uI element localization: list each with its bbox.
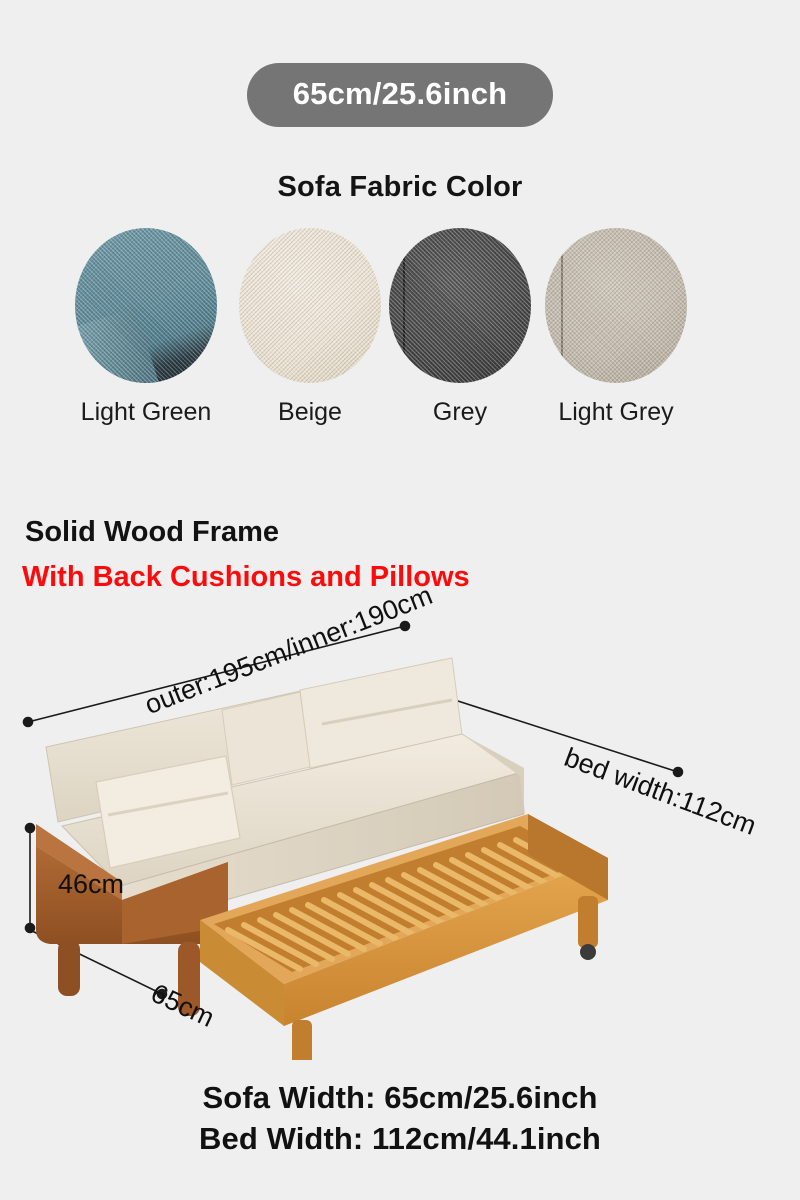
grey-fabric-swatch[interactable]: [389, 228, 531, 383]
bed-leg-right: [578, 896, 598, 948]
fabric-color-title: Sofa Fabric Color: [0, 171, 800, 204]
size-badge-container: 65cm/25.6inch: [0, 63, 800, 127]
fabric-seam-detail: [561, 234, 563, 383]
fabric-option-light-green[interactable]: Light Green: [66, 228, 226, 458]
solid-wood-frame-heading: Solid Wood Frame: [25, 516, 279, 549]
armrest-left-leg: [58, 940, 80, 996]
dimension-summary: Sofa Width: 65cm/25.6inch Bed Width: 112…: [0, 1078, 800, 1160]
bed-leg-front: [292, 1020, 312, 1060]
size-badge: 65cm/25.6inch: [247, 63, 554, 127]
dimension-label-height: 46cm: [58, 869, 124, 900]
fabric-label-light-grey: Light Grey: [558, 399, 673, 427]
product-infographic: 65cm/25.6inch Sofa Fabric Color Light Gr…: [0, 0, 800, 1200]
summary-sofa-width: Sofa Width: 65cm/25.6inch: [0, 1078, 800, 1119]
caster-right: [580, 944, 596, 960]
fabric-label-beige: Beige: [278, 399, 342, 427]
fabric-option-beige[interactable]: Beige: [230, 228, 390, 458]
beige-fabric-swatch[interactable]: [239, 228, 381, 383]
fabric-label-grey: Grey: [433, 399, 487, 427]
fabric-seam-detail: [403, 232, 405, 383]
sofa-bed-illustration: [0, 600, 800, 1060]
fabric-fold-detail: [75, 307, 159, 383]
fabric-option-grey[interactable]: Grey: [380, 228, 540, 458]
fabric-label-light-green: Light Green: [81, 399, 212, 427]
light-green-fabric-swatch[interactable]: [75, 228, 217, 383]
light-grey-fabric-swatch[interactable]: [545, 228, 687, 383]
fabric-swatch-row: Light Green Beige Grey Light Grey: [58, 228, 748, 458]
fabric-option-light-grey[interactable]: Light Grey: [536, 228, 696, 458]
summary-bed-width: Bed Width: 112cm/44.1inch: [0, 1119, 800, 1160]
